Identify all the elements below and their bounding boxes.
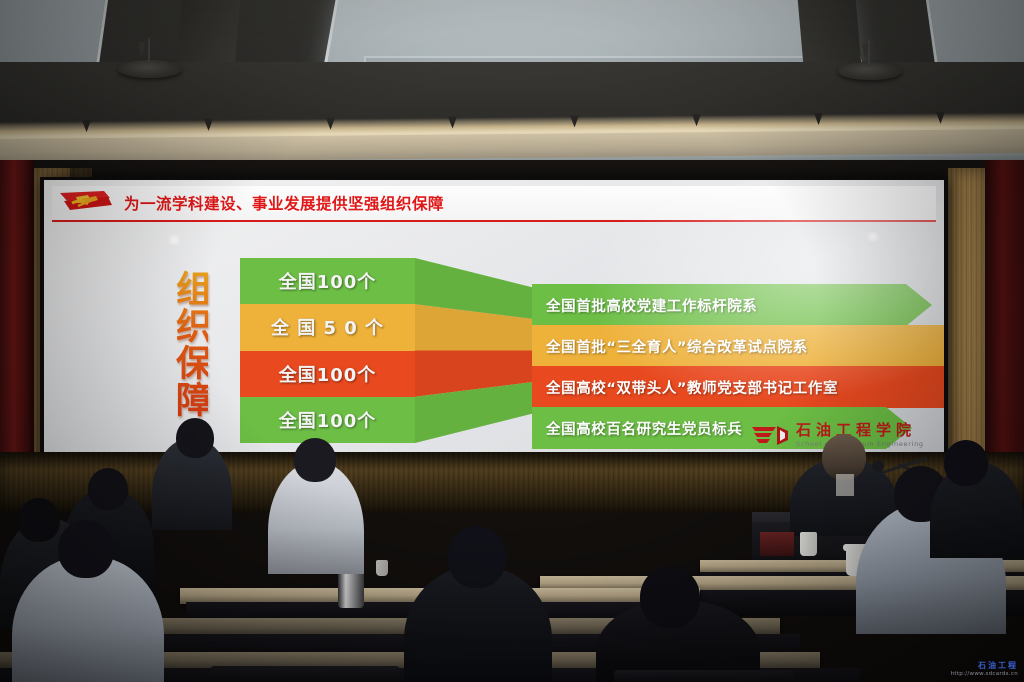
slide-title: 为一流学科建设、事业发展提供坚强组织保障 bbox=[124, 192, 444, 214]
screenshot-root: 为一流学科建设、事业发展提供坚强组织保障 组织保障 全国100个全 国 5 0 … bbox=[0, 0, 1024, 682]
funnel-arrow: 全国首批高校党建工作标杆院系 bbox=[532, 284, 932, 326]
screen-hotspot-left bbox=[165, 235, 183, 245]
screen-hotspot-right bbox=[864, 232, 882, 242]
funnel-chart: 全国100个全 国 5 0 个全国100个全国100个 全国首批高校党建工作标杆… bbox=[240, 258, 910, 443]
attendee-head-white-shirt bbox=[294, 438, 336, 482]
cove-tooth bbox=[936, 112, 945, 124]
attendee-head-front-center bbox=[448, 526, 506, 588]
funnel-arrow-label: 全国首批高校党建工作标杆院系 bbox=[546, 295, 757, 316]
wood-panel-far-right bbox=[948, 168, 988, 468]
attendee-head-right-dark bbox=[944, 440, 988, 486]
cove-tooth bbox=[204, 119, 213, 131]
funnel-left-row-label: 全国100个 bbox=[279, 361, 377, 387]
watermark: 石油工程 http://www.sdcards.cn bbox=[951, 662, 1018, 677]
microphone-head-icon bbox=[872, 460, 884, 472]
watermark-url: http://www.sdcards.cn bbox=[951, 671, 1018, 677]
funnel-left-column: 全国100个全 国 5 0 个全国100个全国100个 bbox=[240, 258, 415, 443]
attendee-head-back-1 bbox=[176, 418, 214, 458]
projection-screen: 为一流学科建设、事业发展提供坚强组织保障 组织保障 全国100个全 国 5 0 … bbox=[44, 180, 944, 461]
desk-nameplate bbox=[760, 532, 794, 556]
slide-title-bar: 为一流学科建设、事业发展提供坚强组织保障 bbox=[52, 186, 936, 222]
cove-tooth bbox=[570, 115, 579, 127]
chair-back-2 bbox=[614, 670, 794, 682]
speaker-shirt-collar bbox=[836, 474, 854, 496]
ceiling-beam-left bbox=[177, 0, 242, 66]
cove-tooth bbox=[448, 117, 457, 129]
funnel-left-row-label: 全国100个 bbox=[279, 268, 377, 294]
cove-tooth bbox=[692, 114, 701, 126]
attendee-head-front-right bbox=[640, 566, 700, 628]
funnel-left-row: 全国100个 bbox=[240, 397, 415, 443]
attendee-head-front-left bbox=[58, 520, 114, 578]
ceiling-speaker-left-icon bbox=[118, 60, 182, 78]
funnel-arrow: 全国首批“三全育人”综合改革试点院系 bbox=[532, 325, 944, 367]
slide-vertical-label: 组织保障 bbox=[152, 270, 208, 418]
funnel-arrow-label: 全国首批“三全育人”综合改革试点院系 bbox=[546, 336, 808, 357]
watermark-text-cn: 石油工程 bbox=[978, 661, 1018, 670]
party-flag-icon bbox=[58, 189, 116, 217]
school-name-cn: 石油工程学院 bbox=[796, 423, 924, 438]
cove-tooth bbox=[326, 118, 335, 130]
funnel-arrow: 全国高校“双带头人”教师党支部书记工作室 bbox=[532, 366, 944, 408]
funnel-left-row-label: 全国100个 bbox=[279, 407, 377, 433]
audience-area bbox=[0, 440, 1024, 682]
funnel-arrow-label: 全国高校“双带头人”教师党支部书记工作室 bbox=[546, 377, 838, 398]
speaker-cup bbox=[800, 532, 817, 556]
chair-back-1 bbox=[210, 666, 400, 682]
cove-tooth bbox=[814, 113, 823, 125]
funnel-left-row-label: 全 国 5 0 个 bbox=[271, 314, 384, 340]
funnel-left-row: 全国100个 bbox=[240, 351, 415, 397]
attendee-head-back-3 bbox=[18, 498, 60, 542]
funnel-left-row: 全 国 5 0 个 bbox=[240, 304, 415, 350]
ceiling-beam-right bbox=[797, 0, 862, 66]
cove-tooth bbox=[82, 120, 91, 132]
attendee-head-back-2 bbox=[88, 468, 128, 510]
funnel-taper bbox=[415, 258, 535, 443]
ceiling-speaker-right-icon bbox=[838, 62, 902, 80]
funnel-arrow-label: 全国高校百名研究生党员标兵 bbox=[546, 418, 742, 439]
funnel-left-row: 全国100个 bbox=[240, 258, 415, 304]
paper-cup-3 bbox=[376, 560, 388, 576]
sprinkler-nozzle-left-icon bbox=[138, 42, 145, 55]
